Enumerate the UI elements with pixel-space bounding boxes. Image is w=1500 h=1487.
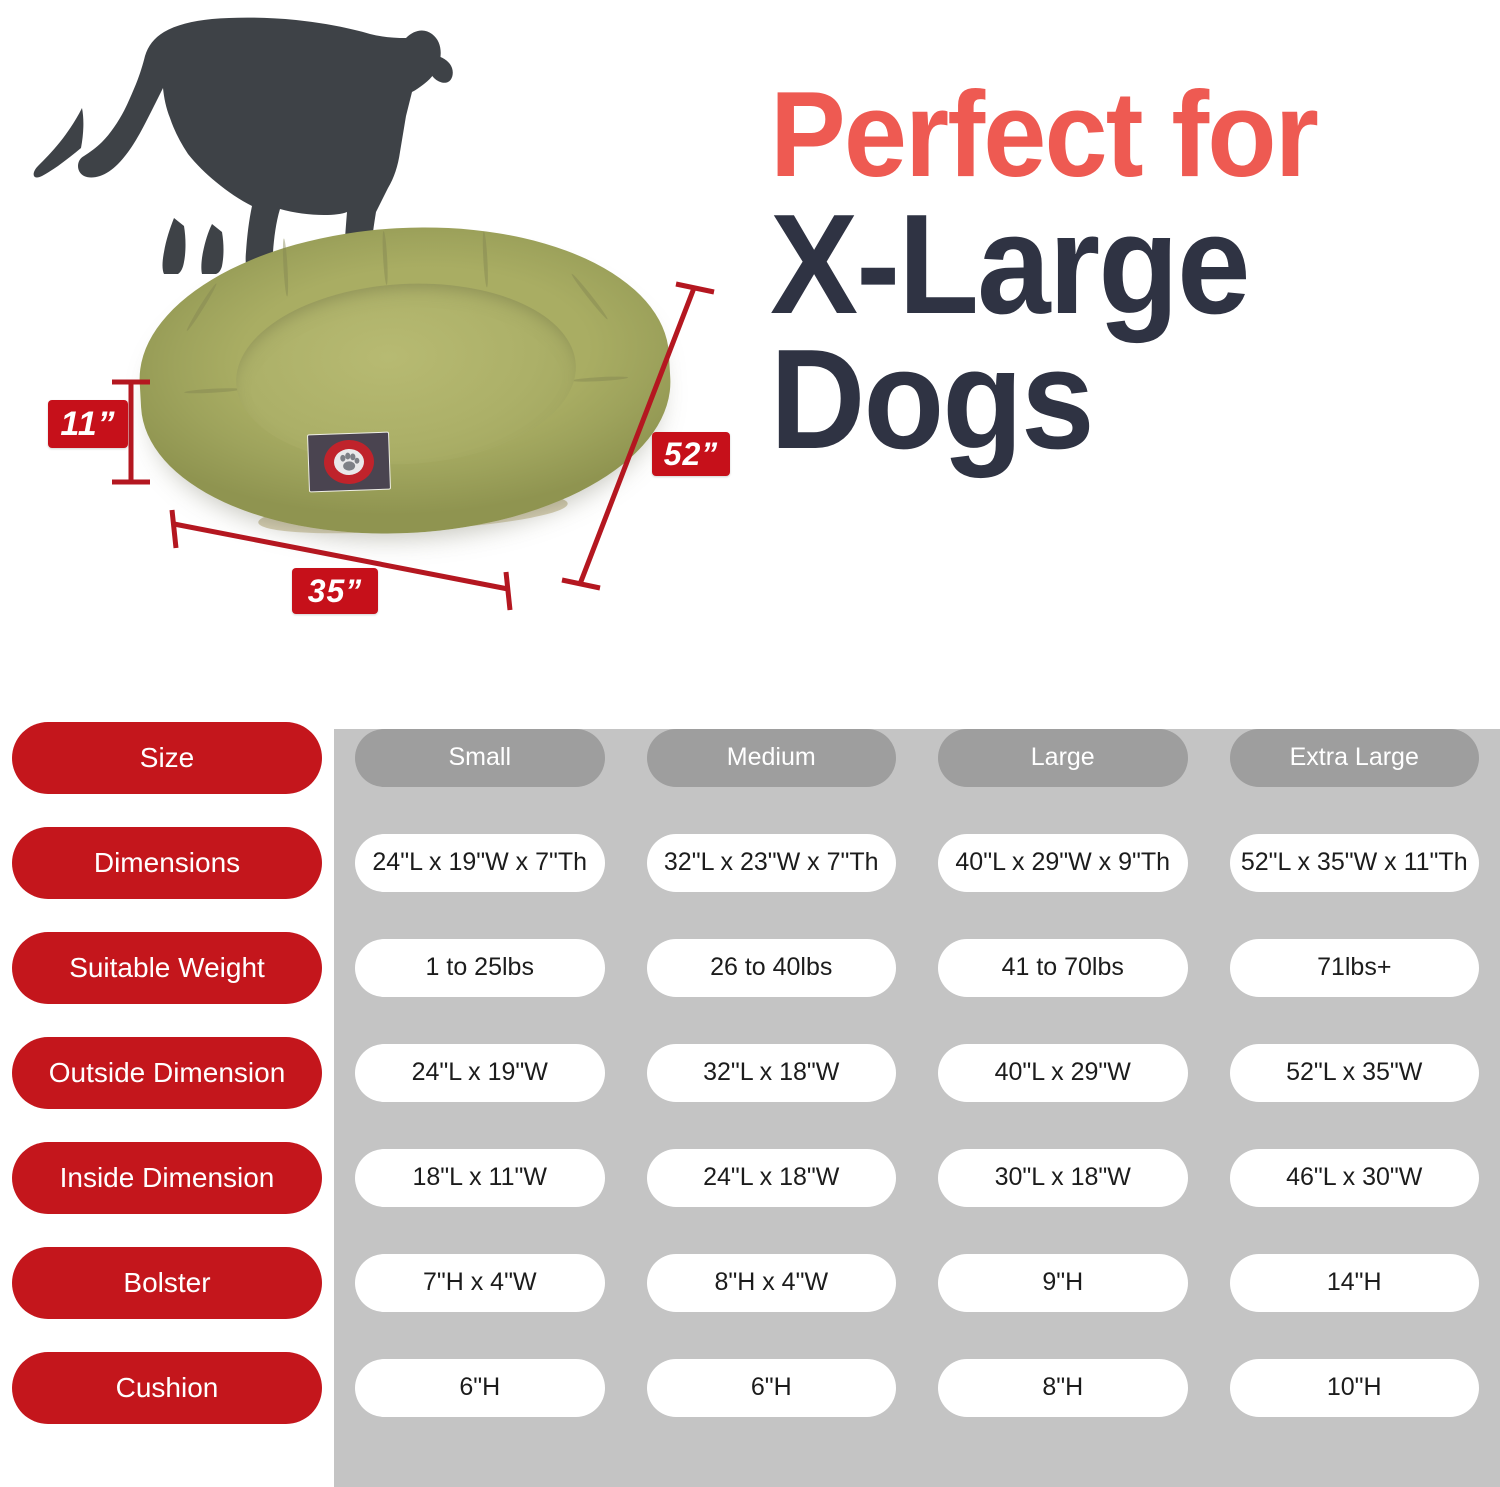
spec-value-pill: 18"L x 11"W [355,1149,605,1207]
row-label-outside-dimension: Outside Dimension [12,1037,322,1109]
dog-bed-image [140,228,670,558]
column-header-pill: Extra Large [1230,729,1480,787]
spec-value-cell: 24"L x 19"W [334,1020,626,1125]
spec-value-pill: 26 to 40lbs [647,939,897,997]
spec-value-cell: 52"L x 35"W [1209,1020,1500,1125]
row-label-bolster: Bolster [12,1247,322,1319]
column-header-cell: Extra Large [1209,705,1500,810]
row-label-suitable-weight: Suitable Weight [12,932,322,1004]
spec-table-section: SizeSmallMediumLargeExtra LargeDimension… [0,705,1500,1487]
spec-value-pill: 71lbs+ [1230,939,1480,997]
measurement-badge-length: 52” [652,432,730,476]
spec-value-pill: 40"L x 29"W [938,1044,1188,1102]
spec-value-pill: 6"H [647,1359,897,1417]
measurement-badge-width: 35” [292,568,378,614]
column-header-pill: Small [355,729,605,787]
spec-value-pill: 32"L x 23"W x 7"Th [647,834,897,892]
spec-value-cell: 71lbs+ [1209,915,1500,1020]
spec-value-cell: 9"H [917,1230,1209,1335]
spec-value-pill: 41 to 70lbs [938,939,1188,997]
spec-value-cell: 32"L x 18"W [626,1020,918,1125]
spec-value-cell: 24"L x 18"W [626,1125,918,1230]
row-label-cell: Inside Dimension [0,1125,334,1230]
measurement-badge-height: 11” [48,400,128,448]
spec-value-pill: 1 to 25lbs [355,939,605,997]
brand-tag [307,432,391,493]
column-header-cell: Medium [626,705,918,810]
spec-value-cell: 14"H [1209,1230,1500,1335]
spec-value-cell: 6"H [626,1335,918,1440]
spec-value-pill: 10"H [1230,1359,1480,1417]
spec-value-pill: 40"L x 29"W x 9"Th [938,834,1188,892]
column-header-cell: Large [917,705,1209,810]
spec-value-pill: 30"L x 18"W [938,1149,1188,1207]
row-label-cushion: Cushion [12,1352,322,1424]
spec-value-cell: 30"L x 18"W [917,1125,1209,1230]
spec-value-pill: 24"L x 18"W [647,1149,897,1207]
spec-value-cell: 40"L x 29"W [917,1020,1209,1125]
spec-value-pill: 9"H [938,1254,1188,1312]
spec-value-pill: 46"L x 30"W [1230,1149,1480,1207]
spec-value-pill: 14"H [1230,1254,1480,1312]
spec-value-cell: 10"H [1209,1335,1500,1440]
row-label-inside-dimension: Inside Dimension [12,1142,322,1214]
column-header-pill: Large [938,729,1188,787]
spec-value-cell: 8"H [917,1335,1209,1440]
spec-value-pill: 8"H [938,1359,1188,1417]
headline-line-1: Perfect for [770,78,1440,190]
spec-value-cell: 7"H x 4"W [334,1230,626,1335]
spec-value-cell: 52"L x 35"W x 11"Th [1209,810,1500,915]
column-header-cell: Small [334,705,626,810]
row-label-cell: Suitable Weight [0,915,334,1020]
row-label-dimensions: Dimensions [12,827,322,899]
spec-value-cell: 1 to 25lbs [334,915,626,1020]
hero-section: 11” 52” 35” Perfect for X-Large Dogs [0,0,1500,705]
spec-value-cell: 24"L x 19"W x 7"Th [334,810,626,915]
row-label-cell: Size [0,705,334,810]
spec-value-pill: 24"L x 19"W x 7"Th [355,834,605,892]
spec-value-pill: 24"L x 19"W [355,1044,605,1102]
headline-block: Perfect for X-Large Dogs [770,78,1490,465]
spec-value-cell: 40"L x 29"W x 9"Th [917,810,1209,915]
spec-value-pill: 6"H [355,1359,605,1417]
headline-line-3: Dogs [770,335,1440,466]
headline-line-2: X-Large [770,200,1440,331]
spec-value-cell: 26 to 40lbs [626,915,918,1020]
row-label-cell: Outside Dimension [0,1020,334,1125]
brand-logo-circle [323,439,375,485]
spec-value-cell: 46"L x 30"W [1209,1125,1500,1230]
spec-value-pill: 52"L x 35"W [1230,1044,1480,1102]
spec-value-cell: 32"L x 23"W x 7"Th [626,810,918,915]
spec-value-pill: 52"L x 35"W x 11"Th [1230,834,1480,892]
spec-value-cell: 8"H x 4"W [626,1230,918,1335]
row-label-cell: Cushion [0,1335,334,1440]
spec-value-cell: 6"H [334,1335,626,1440]
row-label-size: Size [12,722,322,794]
row-label-cell: Dimensions [0,810,334,915]
spec-value-pill: 32"L x 18"W [647,1044,897,1102]
spec-value-cell: 18"L x 11"W [334,1125,626,1230]
spec-table-grid: SizeSmallMediumLargeExtra LargeDimension… [0,705,1500,1440]
spec-value-pill: 8"H x 4"W [647,1254,897,1312]
spec-value-cell: 41 to 70lbs [917,915,1209,1020]
row-label-cell: Bolster [0,1230,334,1335]
spec-value-pill: 7"H x 4"W [355,1254,605,1312]
paw-print-icon [334,448,365,475]
column-header-pill: Medium [647,729,897,787]
